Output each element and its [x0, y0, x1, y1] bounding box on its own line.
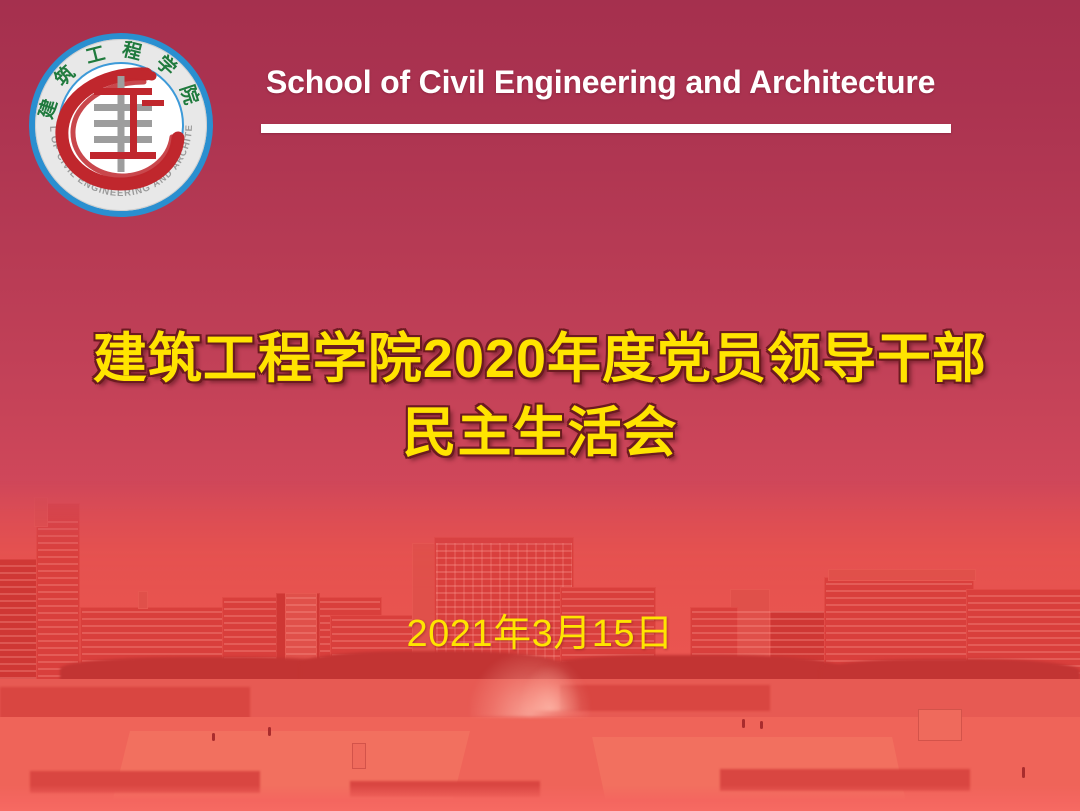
- presentation-slide: 建筑工程学院 SCHOOL OF CIVIL ENGINEERING AND A…: [0, 0, 1080, 811]
- title-line-1: 建筑工程学院2020年度党员领导干部: [0, 322, 1080, 396]
- page-title: School of Civil Engineering and Architec…: [266, 64, 935, 101]
- photo-person: [1022, 767, 1025, 778]
- title-block: 建筑工程学院2020年度党员领导干部 民主生活会: [0, 322, 1080, 470]
- photo-bottom-fade: [0, 785, 1080, 811]
- header-divider: [261, 124, 951, 133]
- school-logo-graphic: 建筑工程学院 SCHOOL OF CIVIL ENGINEERING AND A…: [26, 30, 216, 220]
- photo-person: [742, 719, 745, 728]
- photo-person: [268, 727, 271, 736]
- photo-lawn: [560, 685, 770, 711]
- photo-kiosk: [352, 743, 366, 769]
- slide-date: 2021年3月15日: [0, 602, 1080, 657]
- photo-fountain: [520, 667, 580, 711]
- photo-building: [828, 569, 976, 581]
- photo-lawn: [0, 687, 250, 721]
- school-logo: 建筑工程学院 SCHOOL OF CIVIL ENGINEERING AND A…: [26, 30, 216, 220]
- photo-person: [212, 733, 215, 741]
- title-line-2: 民主生活会: [0, 396, 1080, 470]
- photo-person: [760, 721, 763, 729]
- photo-kiosk: [918, 709, 962, 741]
- slide-header: 建筑工程学院 SCHOOL OF CIVIL ENGINEERING AND A…: [0, 0, 1080, 230]
- photo-building: [34, 497, 48, 527]
